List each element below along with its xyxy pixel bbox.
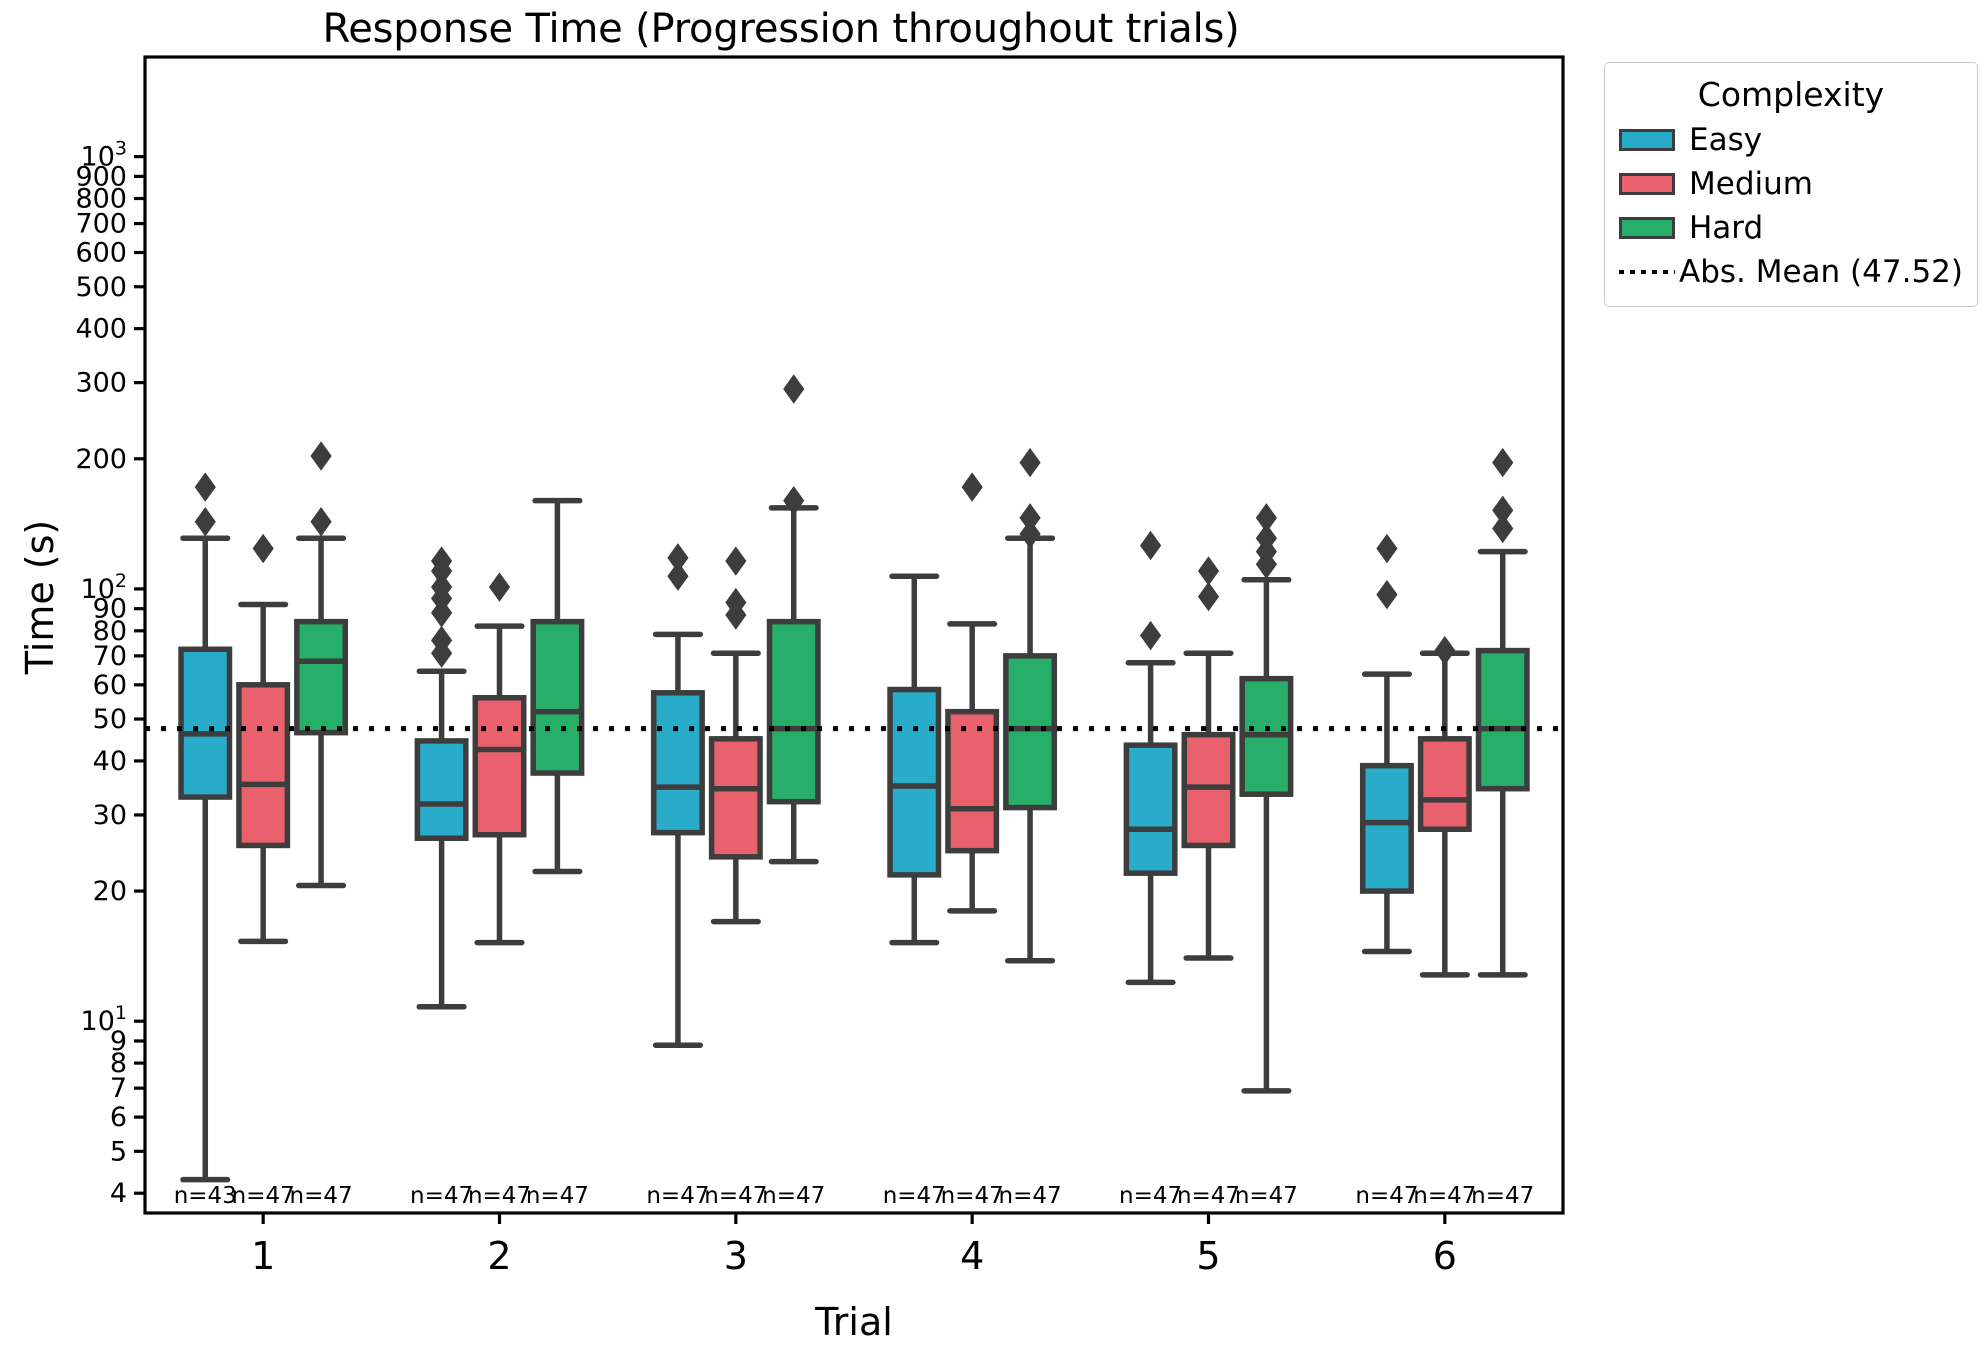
n-label: n=47	[762, 1183, 825, 1209]
n-label: n=47	[1413, 1183, 1476, 1209]
box-easy-trial5	[1126, 533, 1174, 983]
box-hard-trial5	[1242, 505, 1290, 1091]
box-hard-trial4	[1006, 450, 1054, 961]
box-medium-trial4	[948, 474, 996, 911]
legend-label-hard: Hard	[1689, 210, 1763, 246]
svg-text:200: 200	[75, 444, 127, 475]
n-label: n=47	[1119, 1183, 1182, 1209]
n-label: n=47	[999, 1183, 1062, 1209]
svg-text:4: 4	[110, 1178, 127, 1209]
box-medium-trial5	[1184, 558, 1232, 958]
n-label: n=47	[290, 1183, 353, 1209]
box-easy-trial3	[654, 545, 702, 1045]
svg-text:500: 500	[75, 272, 127, 303]
dotted-line-icon	[1619, 261, 1665, 283]
box-plot-series	[181, 376, 1527, 1180]
svg-text:20: 20	[93, 876, 127, 907]
chart-root: Response Time (Progression throughout tr…	[0, 0, 1988, 1369]
svg-text:5: 5	[110, 1136, 127, 1167]
svg-text:3: 3	[724, 1234, 748, 1278]
svg-text:40: 40	[93, 746, 127, 777]
box-medium-trial3	[712, 548, 760, 922]
box-hard-trial3	[770, 376, 818, 862]
legend: Complexity Easy Medium Hard Abs. Mean (4…	[1604, 62, 1978, 307]
n-label: n=47	[1355, 1183, 1418, 1209]
svg-text:70: 70	[93, 641, 127, 672]
n-label: n=47	[883, 1183, 946, 1209]
y-axis-ticks: 1039008007006005004003002001029080706050…	[75, 138, 145, 1210]
svg-text:6: 6	[1433, 1234, 1457, 1278]
legend-swatch-hard	[1619, 217, 1675, 239]
box-easy-trial6	[1363, 536, 1411, 952]
legend-label-easy: Easy	[1689, 122, 1762, 158]
box-hard-trial1	[297, 443, 345, 886]
n-label: n=47	[1177, 1183, 1240, 1209]
n-label: n=43	[174, 1183, 237, 1209]
svg-text:1: 1	[251, 1234, 275, 1278]
x-axis-ticks: 123456	[251, 1213, 1457, 1278]
legend-swatch-medium	[1619, 173, 1675, 195]
legend-label-medium: Medium	[1689, 166, 1813, 202]
svg-text:2: 2	[487, 1234, 511, 1278]
svg-text:700: 700	[75, 209, 127, 240]
legend-item-easy[interactable]: Easy	[1619, 118, 1963, 162]
legend-item-mean[interactable]: Abs. Mean (47.52)	[1619, 250, 1963, 294]
svg-text:400: 400	[75, 314, 127, 345]
svg-text:5: 5	[1196, 1234, 1220, 1278]
svg-text:600: 600	[75, 238, 127, 269]
box-medium-trial6	[1421, 638, 1469, 975]
svg-text:6: 6	[110, 1102, 127, 1133]
box-hard-trial2	[533, 501, 581, 872]
legend-item-medium[interactable]: Medium	[1619, 162, 1963, 206]
n-label: n=47	[704, 1183, 767, 1209]
svg-text:30: 30	[93, 800, 127, 831]
svg-text:300: 300	[75, 368, 127, 399]
legend-item-hard[interactable]: Hard	[1619, 206, 1963, 250]
n-label: n=47	[941, 1183, 1004, 1209]
n-label: n=47	[410, 1183, 473, 1209]
box-hard-trial6	[1479, 450, 1527, 975]
n-label: n=47	[1235, 1183, 1298, 1209]
n-label: n=47	[232, 1183, 295, 1209]
box-easy-trial2	[417, 548, 465, 1007]
n-count-labels: n=43n=47n=47n=47n=47n=47n=47n=47n=47n=47…	[174, 1183, 1535, 1209]
box-medium-trial1	[239, 536, 287, 942]
svg-text:4: 4	[960, 1234, 984, 1278]
n-label: n=47	[468, 1183, 531, 1209]
box-easy-trial4	[890, 576, 938, 942]
axes-frame	[145, 57, 1563, 1213]
box-medium-trial2	[475, 574, 523, 943]
n-label: n=47	[646, 1183, 709, 1209]
svg-text:60: 60	[93, 670, 127, 701]
svg-text:50: 50	[93, 704, 127, 735]
legend-label-mean: Abs. Mean (47.52)	[1679, 254, 1963, 290]
box-easy-trial1	[181, 474, 229, 1180]
n-label: n=47	[526, 1183, 589, 1209]
n-label: n=47	[1471, 1183, 1534, 1209]
legend-title: Complexity	[1619, 75, 1963, 114]
legend-swatch-easy	[1619, 129, 1675, 151]
svg-text:7: 7	[110, 1073, 127, 1104]
